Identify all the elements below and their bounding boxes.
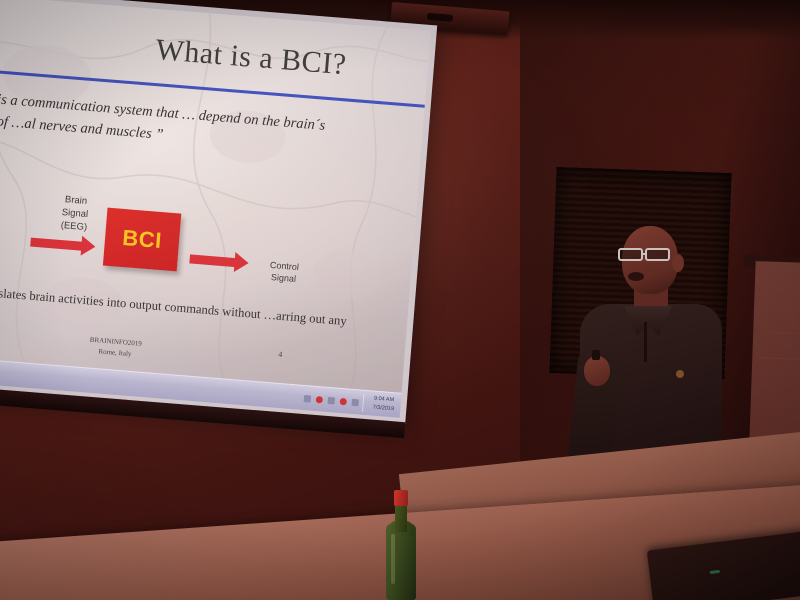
bottle: [386, 488, 416, 600]
control-signal-label: Control Signal: [252, 258, 316, 287]
shirt-logo: [676, 370, 684, 378]
photo-scene: a What is a BCI? “…-Computer Interface i…: [0, 0, 800, 600]
presentation-clicker: [592, 350, 600, 360]
input-arrow-icon: [30, 238, 83, 251]
slide-number: 4: [278, 350, 283, 359]
output-arrow-icon: [189, 254, 236, 267]
presenter-hand: [584, 356, 610, 386]
glasses-icon: [618, 248, 680, 261]
bottle-highlight: [391, 534, 395, 584]
projection-screen: a What is a BCI? “…-Computer Interface i…: [0, 0, 437, 424]
action-center-icon[interactable]: [351, 398, 359, 406]
presenter-mouth: [628, 272, 644, 281]
taskbar-clock[interactable]: 9:04 AM 7/3/2019: [362, 394, 401, 415]
brain-signal-label: Brain Signal (EEG): [43, 193, 106, 236]
network-icon[interactable]: [328, 396, 336, 404]
polo-placket: [644, 322, 647, 362]
powerpoint-slide[interactable]: a What is a BCI? “…-Computer Interface i…: [0, 0, 431, 402]
bci-box: BCI: [103, 208, 181, 272]
volume-icon[interactable]: [340, 397, 348, 405]
housing-slot: [427, 13, 453, 22]
laptop-led-icon: [710, 570, 720, 574]
clock-date: 7/3/2019: [366, 403, 401, 414]
show-hidden-icons-icon[interactable]: [304, 395, 312, 403]
bottle-cap: [394, 490, 408, 506]
bottle-neck: [395, 502, 407, 532]
system-tray[interactable]: [304, 395, 363, 407]
antivirus-icon[interactable]: [316, 395, 324, 403]
bci-box-label: BCI: [121, 225, 162, 254]
